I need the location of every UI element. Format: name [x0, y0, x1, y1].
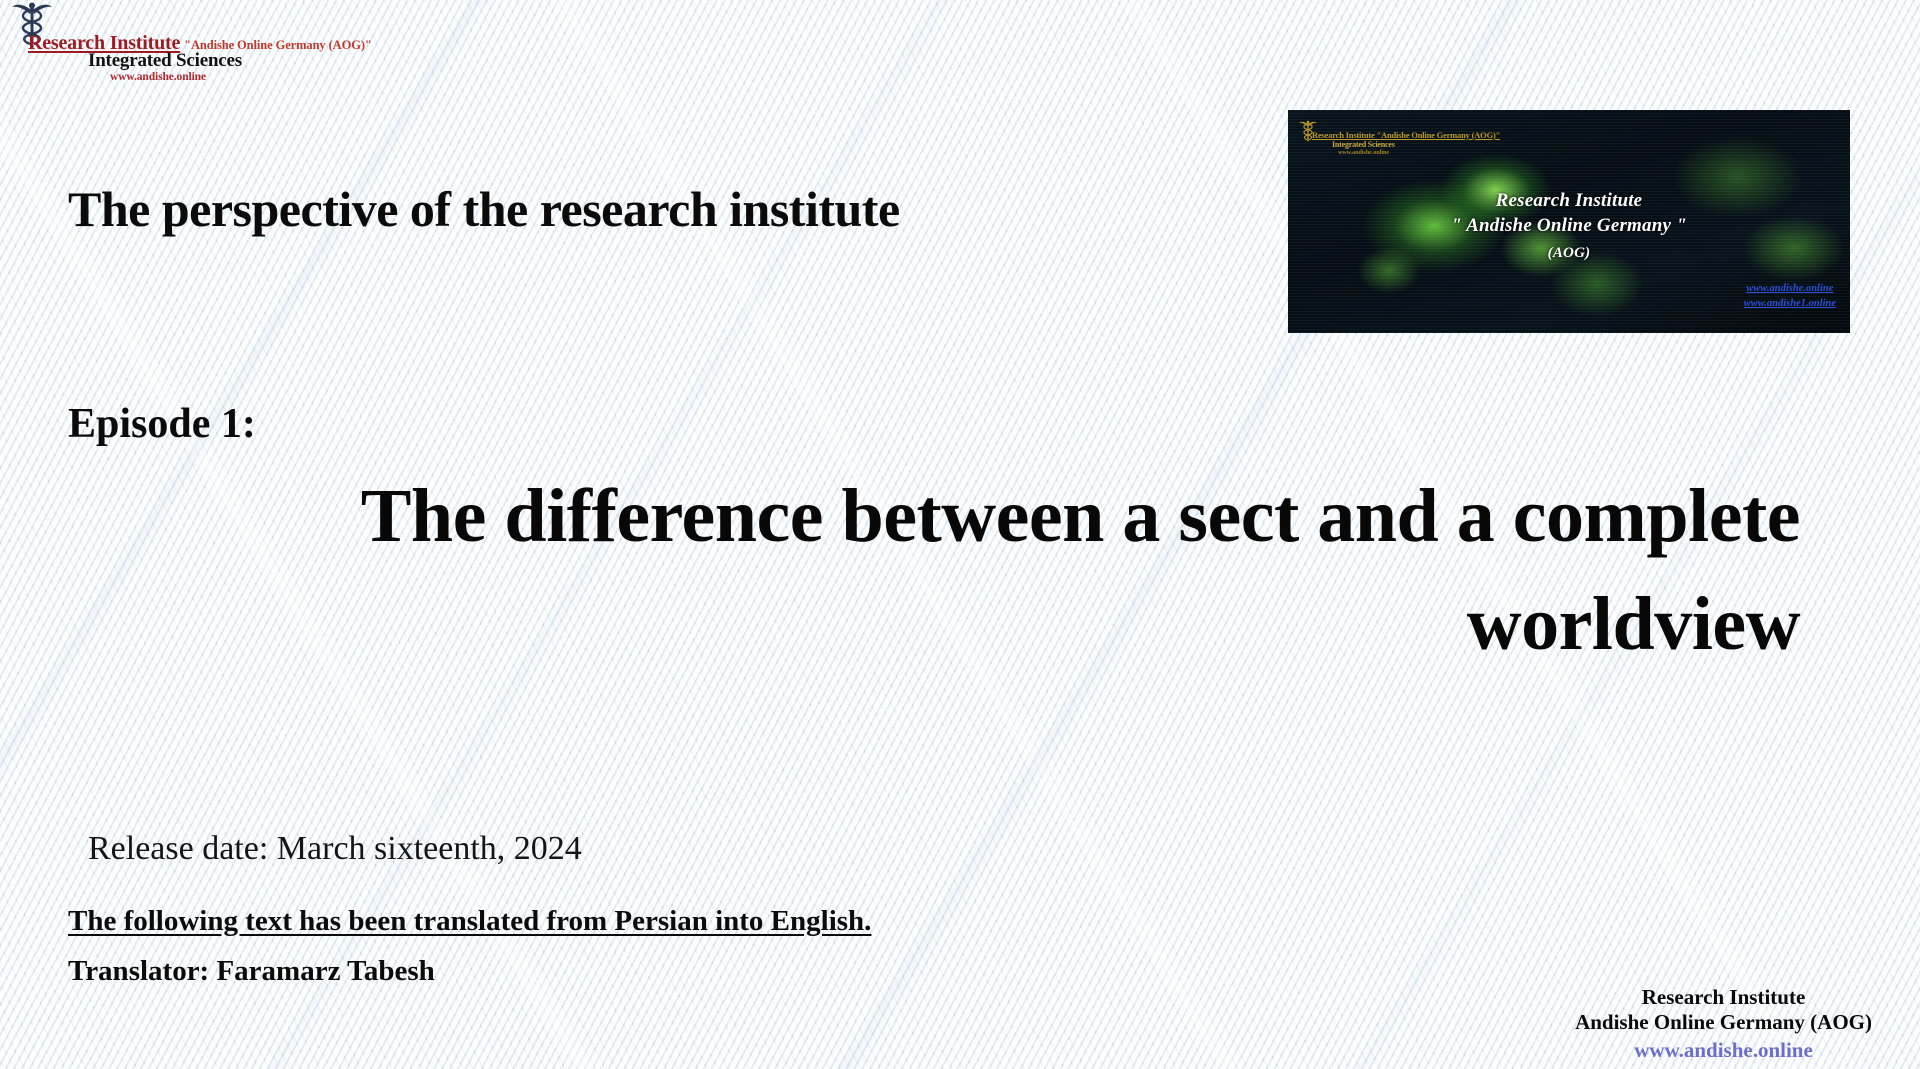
banner-title-line3: (AOG)	[1288, 241, 1850, 266]
banner-link-andishe1[interactable]: www.andishe1.online	[1744, 296, 1836, 311]
footer-line2: Andishe Online Germany (AOG)	[1575, 1010, 1872, 1035]
banner-links[interactable]: www.andishe.online www.andishe1.online	[1744, 281, 1836, 311]
banner-logo-line1: Research Institute "Andishe Online Germa…	[1312, 130, 1500, 140]
page-title: The perspective of the research institut…	[68, 180, 900, 238]
header-logo-block: Research Institute "Andishe Online Germa…	[0, 0, 420, 92]
episode-label: Episode 1:	[68, 400, 256, 448]
translation-note: The following text has been translated f…	[68, 905, 871, 938]
footer-url[interactable]: www.andishe.online	[1575, 1038, 1872, 1063]
header-logo-url: www.andishe.online	[110, 71, 206, 83]
footer-block: Research Institute Andishe Online German…	[1575, 985, 1872, 1063]
translator-credit: Translator: Faramarz Tabesh	[68, 955, 435, 988]
presentation-slide: Research Institute "Andishe Online Germa…	[0, 0, 1920, 1069]
banner-logo-block: Research Institute "Andishe Online Germa…	[1298, 118, 1498, 164]
release-date: Release date: March sixteenth, 2024	[88, 830, 582, 868]
night-earth-banner: Research Institute "Andishe Online Germa…	[1288, 110, 1850, 333]
banner-logo-line3: www.andishe.online	[1338, 150, 1389, 156]
banner-link-andishe[interactable]: www.andishe.online	[1744, 281, 1836, 296]
banner-title-line2: " Andishe Online Germany "	[1451, 215, 1687, 236]
footer-line1: Research Institute	[1575, 985, 1872, 1010]
banner-logo-line2: Integrated Sciences	[1332, 140, 1395, 149]
banner-title-line1: Research Institute	[1496, 190, 1643, 211]
banner-title: Research Institute " Andishe Online Germ…	[1288, 188, 1850, 266]
episode-headline: The difference between a sect and a comp…	[150, 462, 1800, 678]
header-logo-integrated-sciences: Integrated Sciences	[88, 50, 242, 72]
